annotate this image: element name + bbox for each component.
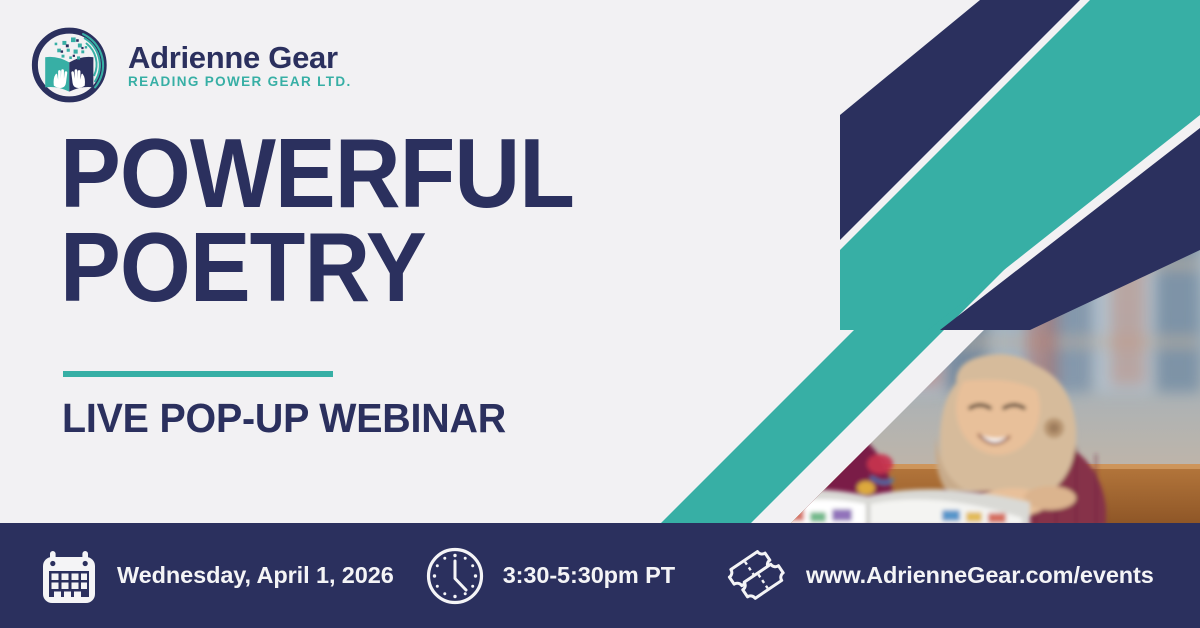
brand-logo[interactable]: Adrienne Gear READING POWER GEAR LTD.: [28, 22, 352, 108]
page-title: POWERFUL POETRY: [60, 126, 574, 314]
webinar-promo-banner: Adrienne Gear READING POWER GEAR LTD. PO…: [0, 0, 1200, 628]
brand-tagline: READING POWER GEAR LTD.: [128, 75, 352, 89]
title-line-2: POETRY: [60, 220, 574, 314]
ticket-icon: [725, 544, 789, 608]
title-divider: [63, 371, 333, 377]
event-date-item: Wednesday, April 1, 2026: [38, 545, 394, 607]
event-url-text[interactable]: www.AdrienneGear.com/events: [806, 562, 1154, 589]
brand-name: Adrienne Gear: [128, 42, 352, 73]
child-left: [590, 302, 722, 526]
brand-wordmark: Adrienne Gear READING POWER GEAR LTD.: [128, 42, 352, 89]
title-line-1: POWERFUL: [60, 126, 574, 220]
event-time-item: 3:30-5:30pm PT: [424, 545, 675, 607]
event-date-text: Wednesday, April 1, 2026: [117, 562, 394, 589]
event-subtitle: LIVE POP-UP WEBINAR: [62, 398, 506, 439]
stripe-navy-outer: [840, 0, 1080, 240]
calendar-icon: [38, 545, 100, 607]
child-middle: [748, 294, 896, 526]
event-time-text: 3:30-5:30pm PT: [503, 562, 675, 589]
photo-illustration: [470, 196, 1200, 526]
event-url-item[interactable]: www.AdrienneGear.com/events: [725, 544, 1154, 608]
clock-icon: [424, 545, 486, 607]
event-photo: [470, 196, 1200, 526]
open-book-circle-logo-icon: [28, 22, 114, 108]
event-details-bar: Wednesday, April 1, 2026: [0, 523, 1200, 628]
